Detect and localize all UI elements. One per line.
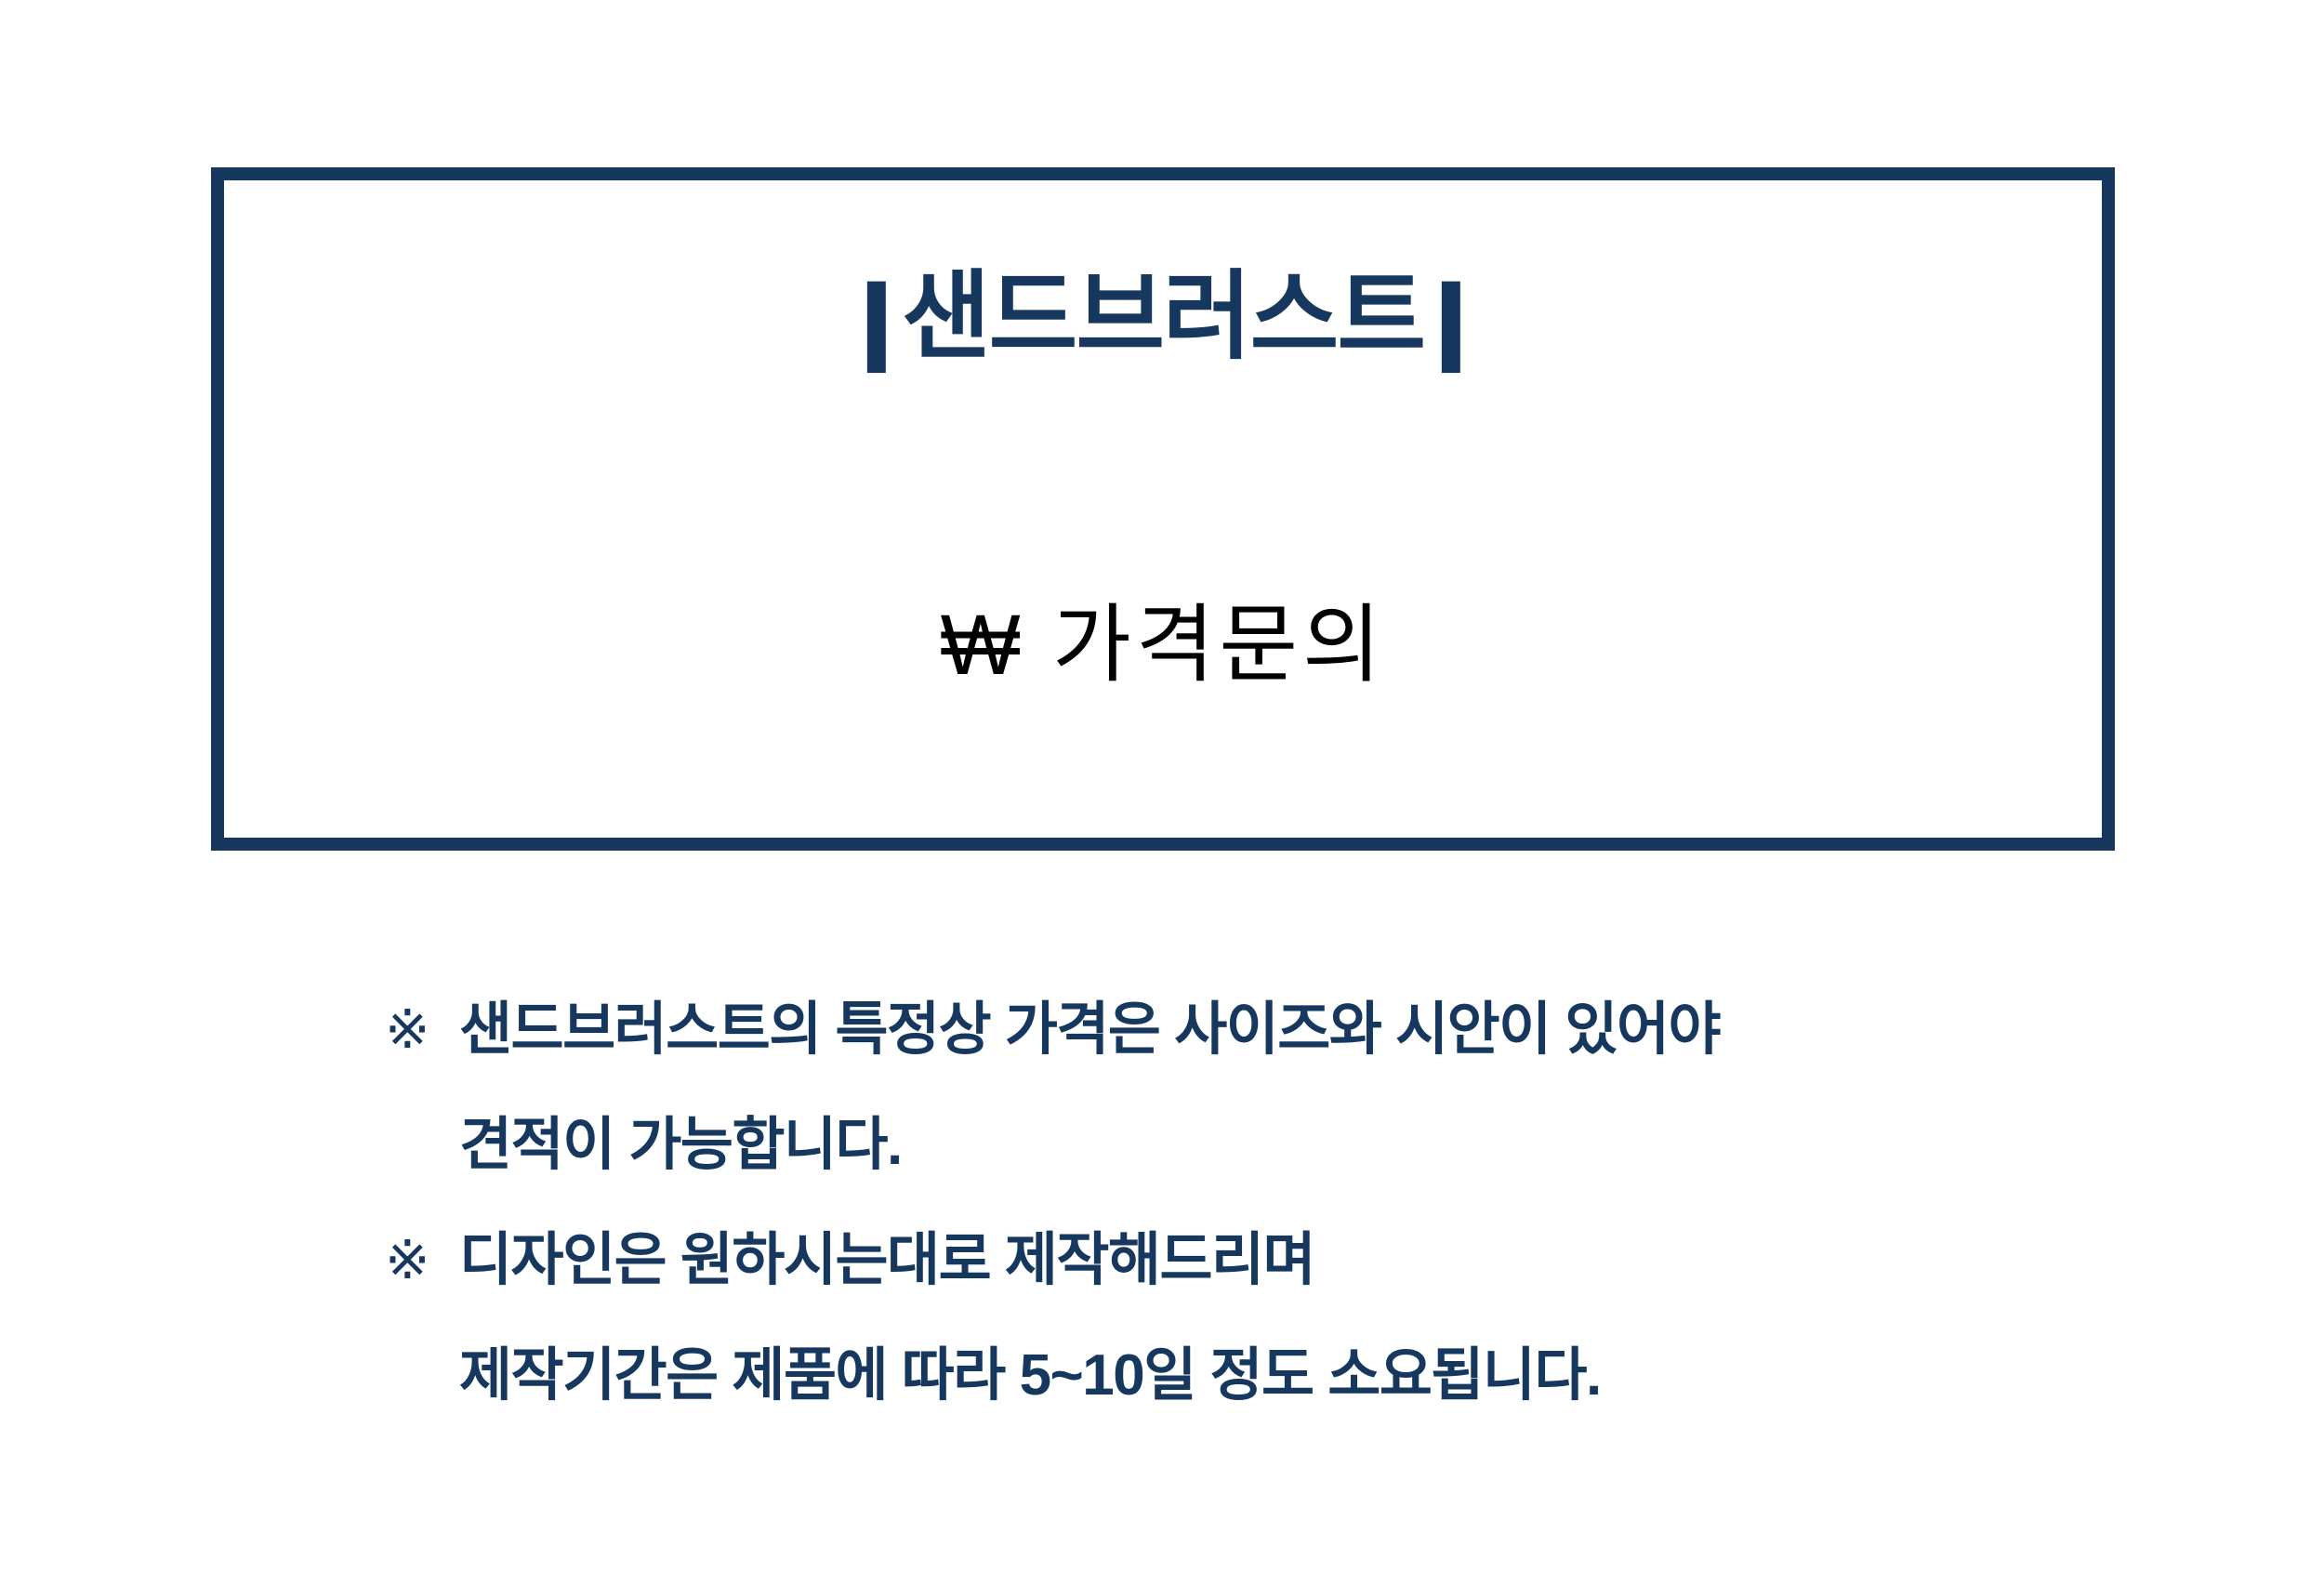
note-item: 제작기간은 제품에 따라 5~10일 정도 소요됩니다. (385, 1318, 2151, 1434)
won-currency-icon: ₩ (940, 597, 1021, 695)
reference-mark-icon: ※ (385, 1203, 459, 1318)
note-item: ※ 샌드브러스트의 특정상 가격은 사이즈와 시안이 있어야 (385, 972, 2151, 1088)
note-text: 견적이 가능합니다. (459, 1088, 902, 1203)
note-text: 디자인은 원하시는대로 제작해드리며 (459, 1203, 1314, 1318)
note-item: 견적이 가능합니다. (385, 1088, 2151, 1203)
title-text: 샌드브러스트 (902, 262, 1424, 374)
note-text: 제작기간은 제품에 따라 5~10일 정도 소요됩니다. (459, 1318, 1601, 1434)
reference-mark-icon: ※ (385, 972, 459, 1088)
hero-frame-box: |샌드브러스트| ₩가격문의 (211, 167, 2115, 851)
price-inquiry-label: 가격문의 (1052, 597, 1386, 695)
hero-content: |샌드브러스트| ₩가격문의 (224, 180, 2102, 838)
title-left-bar-icon: | (856, 264, 895, 376)
price-inquiry-heading: ₩가격문의 (224, 597, 2102, 695)
note-text: 샌드브러스트의 특정상 가격은 사이즈와 시안이 있어야 (459, 972, 1720, 1088)
page-title: |샌드브러스트| (224, 262, 2102, 376)
page-root: |샌드브러스트| ₩가격문의 ※ 샌드브러스트의 특정상 가격은 사이즈와 시안… (0, 0, 2324, 1573)
title-right-bar-icon: | (1431, 264, 1470, 376)
notes-list: ※ 샌드브러스트의 특정상 가격은 사이즈와 시안이 있어야 견적이 가능합니다… (385, 972, 2151, 1434)
note-item: ※ 디자인은 원하시는대로 제작해드리며 (385, 1203, 2151, 1318)
